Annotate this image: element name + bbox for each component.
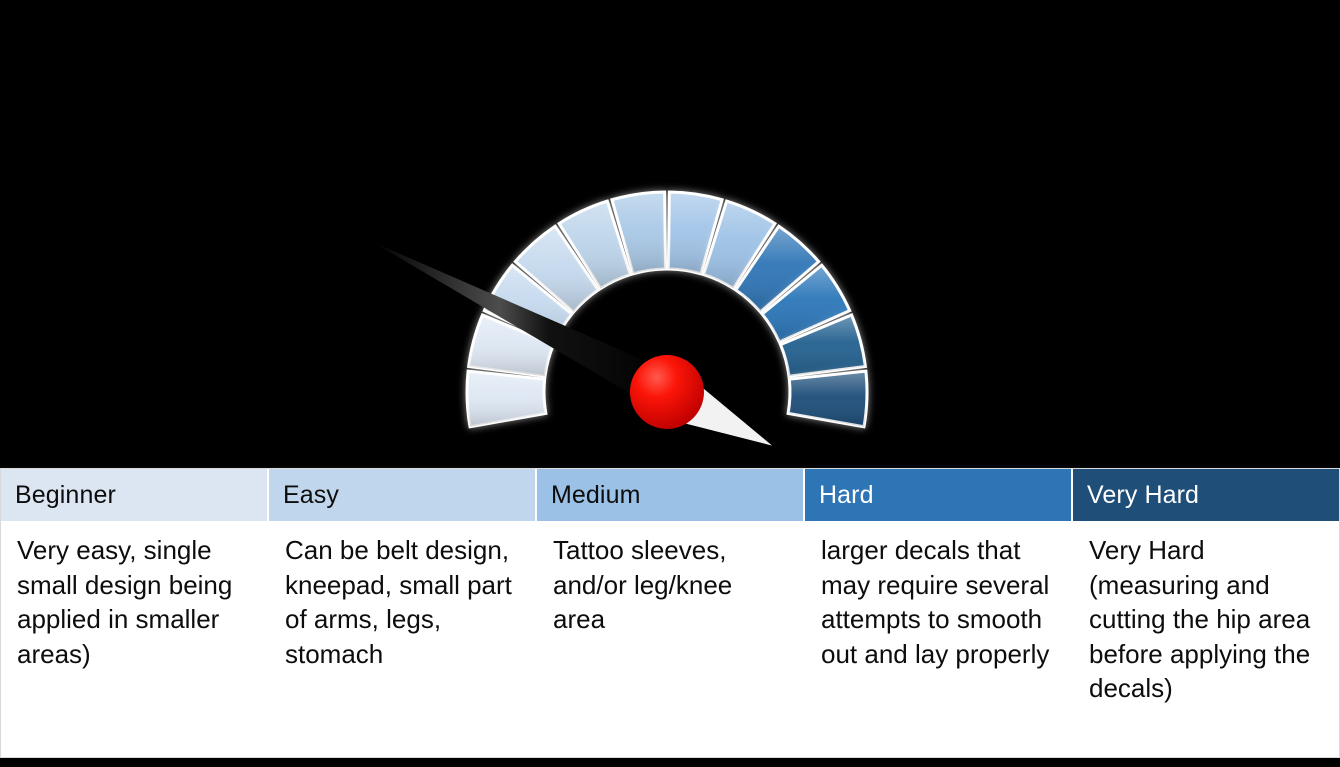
difficulty-table: BeginnerEasyMediumHardVery Hard Very eas… xyxy=(0,468,1340,758)
gauge-segment-shade xyxy=(467,371,546,427)
table-header-row: BeginnerEasyMediumHardVery Hard xyxy=(1,469,1339,521)
slide-canvas: BeginnerEasyMediumHardVery Hard Very eas… xyxy=(0,0,1340,767)
table-header-cell[interactable]: Very Hard xyxy=(1073,469,1339,521)
difficulty-gauge xyxy=(0,0,1340,470)
table-header-cell[interactable]: Medium xyxy=(537,469,805,521)
table-body-cell: Very easy, single small design being app… xyxy=(1,521,269,757)
table-body-cell: larger decals that may require several a… xyxy=(805,521,1073,757)
gauge-segment-shade xyxy=(788,371,867,427)
table-body-row: Very easy, single small design being app… xyxy=(1,521,1339,757)
table-body-cell: Very Hard (measuring and cutting the hip… xyxy=(1073,521,1339,757)
table-header-cell[interactable]: Easy xyxy=(269,469,537,521)
gauge-svg xyxy=(0,0,1340,470)
table-header-cell[interactable]: Beginner xyxy=(1,469,269,521)
table-body-cell: Can be belt design, kneepad, small part … xyxy=(269,521,537,757)
bottom-strip xyxy=(0,758,1340,767)
table-body-cell: Tattoo sleeves, and/or leg/knee area xyxy=(537,521,805,757)
table-header-cell[interactable]: Hard xyxy=(805,469,1073,521)
gauge-hub[interactable] xyxy=(630,355,704,429)
